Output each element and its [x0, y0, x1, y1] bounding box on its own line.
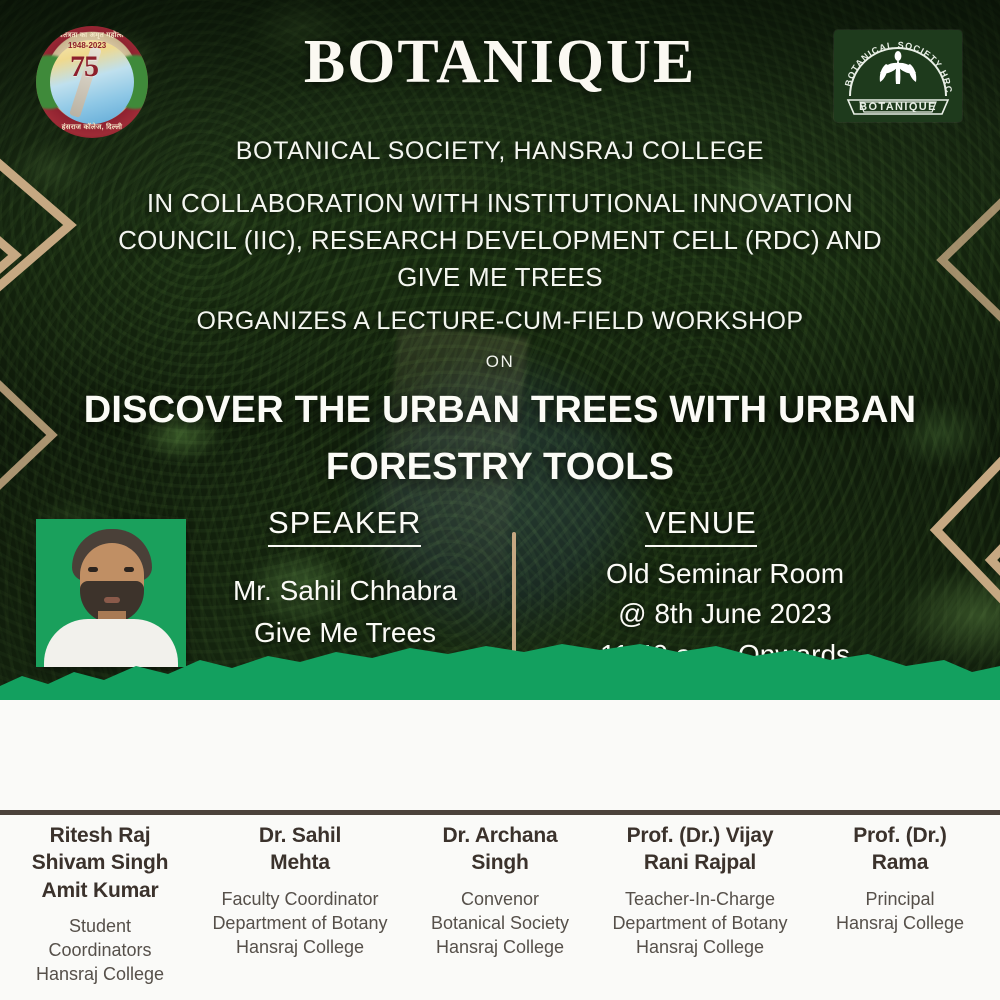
- workshop-topic-title: DISCOVER THE URBAN TREES WITH URBAN FORE…: [60, 382, 940, 496]
- photo-lip: [104, 597, 120, 603]
- credit-item: Dr. Sahil Mehta Faculty Coordinator Depa…: [200, 822, 400, 986]
- credits-divider-line: [0, 810, 1000, 815]
- credit-name: Dr. Sahil Mehta: [206, 822, 394, 877]
- poster-subtitle: BOTANICAL SOCIETY, HANSRAJ COLLEGE: [0, 137, 1000, 166]
- venue-date: @ 8th June 2023: [540, 594, 910, 634]
- credits-row: Ritesh Raj Shivam Singh Amit Kumar Stude…: [0, 822, 1000, 986]
- speaker-heading: SPEAKER: [268, 505, 421, 547]
- poster-brand-title: BOTANIQUE: [0, 30, 1000, 95]
- photo-eye-left: [88, 567, 98, 572]
- organizes-text: ORGANIZES A LECTURE-CUM-FIELD WORKSHOP: [0, 307, 1000, 336]
- venue-place: Old Seminar Room: [540, 554, 910, 594]
- credit-name: Dr. Archana Singh: [406, 822, 594, 877]
- event-poster: स्वतंत्रता का अमृत महोत्सव 1948-2023 75 …: [0, 0, 1000, 1000]
- credit-name: Prof. (Dr.) Rama: [806, 822, 994, 877]
- venue-heading: VENUE: [645, 505, 757, 547]
- credit-role: Principal Hansraj College: [806, 887, 994, 935]
- credit-name: Prof. (Dr.) Vijay Rani Rajpal: [606, 822, 794, 877]
- credit-role: Teacher-In-Charge Department of Botany H…: [606, 887, 794, 959]
- on-label: ON: [0, 352, 1000, 372]
- credit-role: Student Coordinators Hansraj College: [6, 914, 194, 986]
- speaker-name: Mr. Sahil Chhabra: [185, 570, 505, 612]
- credit-item: Prof. (Dr.) Rama Principal Hansraj Colle…: [800, 822, 1000, 986]
- collaboration-text: IN COLLABORATION WITH INSTITUTIONAL INNO…: [90, 185, 910, 296]
- credit-name: Ritesh Raj Shivam Singh Amit Kumar: [6, 822, 194, 904]
- credit-item: Prof. (Dr.) Vijay Rani Rajpal Teacher-In…: [600, 822, 800, 986]
- credit-role: Faculty Coordinator Department of Botany…: [206, 887, 394, 959]
- credit-role: Convenor Botanical Society Hansraj Colle…: [406, 887, 594, 959]
- svg-text:BOTANIQUE: BOTANIQUE: [859, 101, 937, 113]
- credit-item: Ritesh Raj Shivam Singh Amit Kumar Stude…: [0, 822, 200, 986]
- credit-item: Dr. Archana Singh Convenor Botanical Soc…: [400, 822, 600, 986]
- photo-eye-right: [124, 567, 134, 572]
- sponsor-logo-strip: Give me trees HANSRAJ COLLEGE RESEARCH &…: [0, 712, 1000, 810]
- logo-hindi-bottom: हंसराज कॉलेज, दिल्ली: [36, 124, 148, 131]
